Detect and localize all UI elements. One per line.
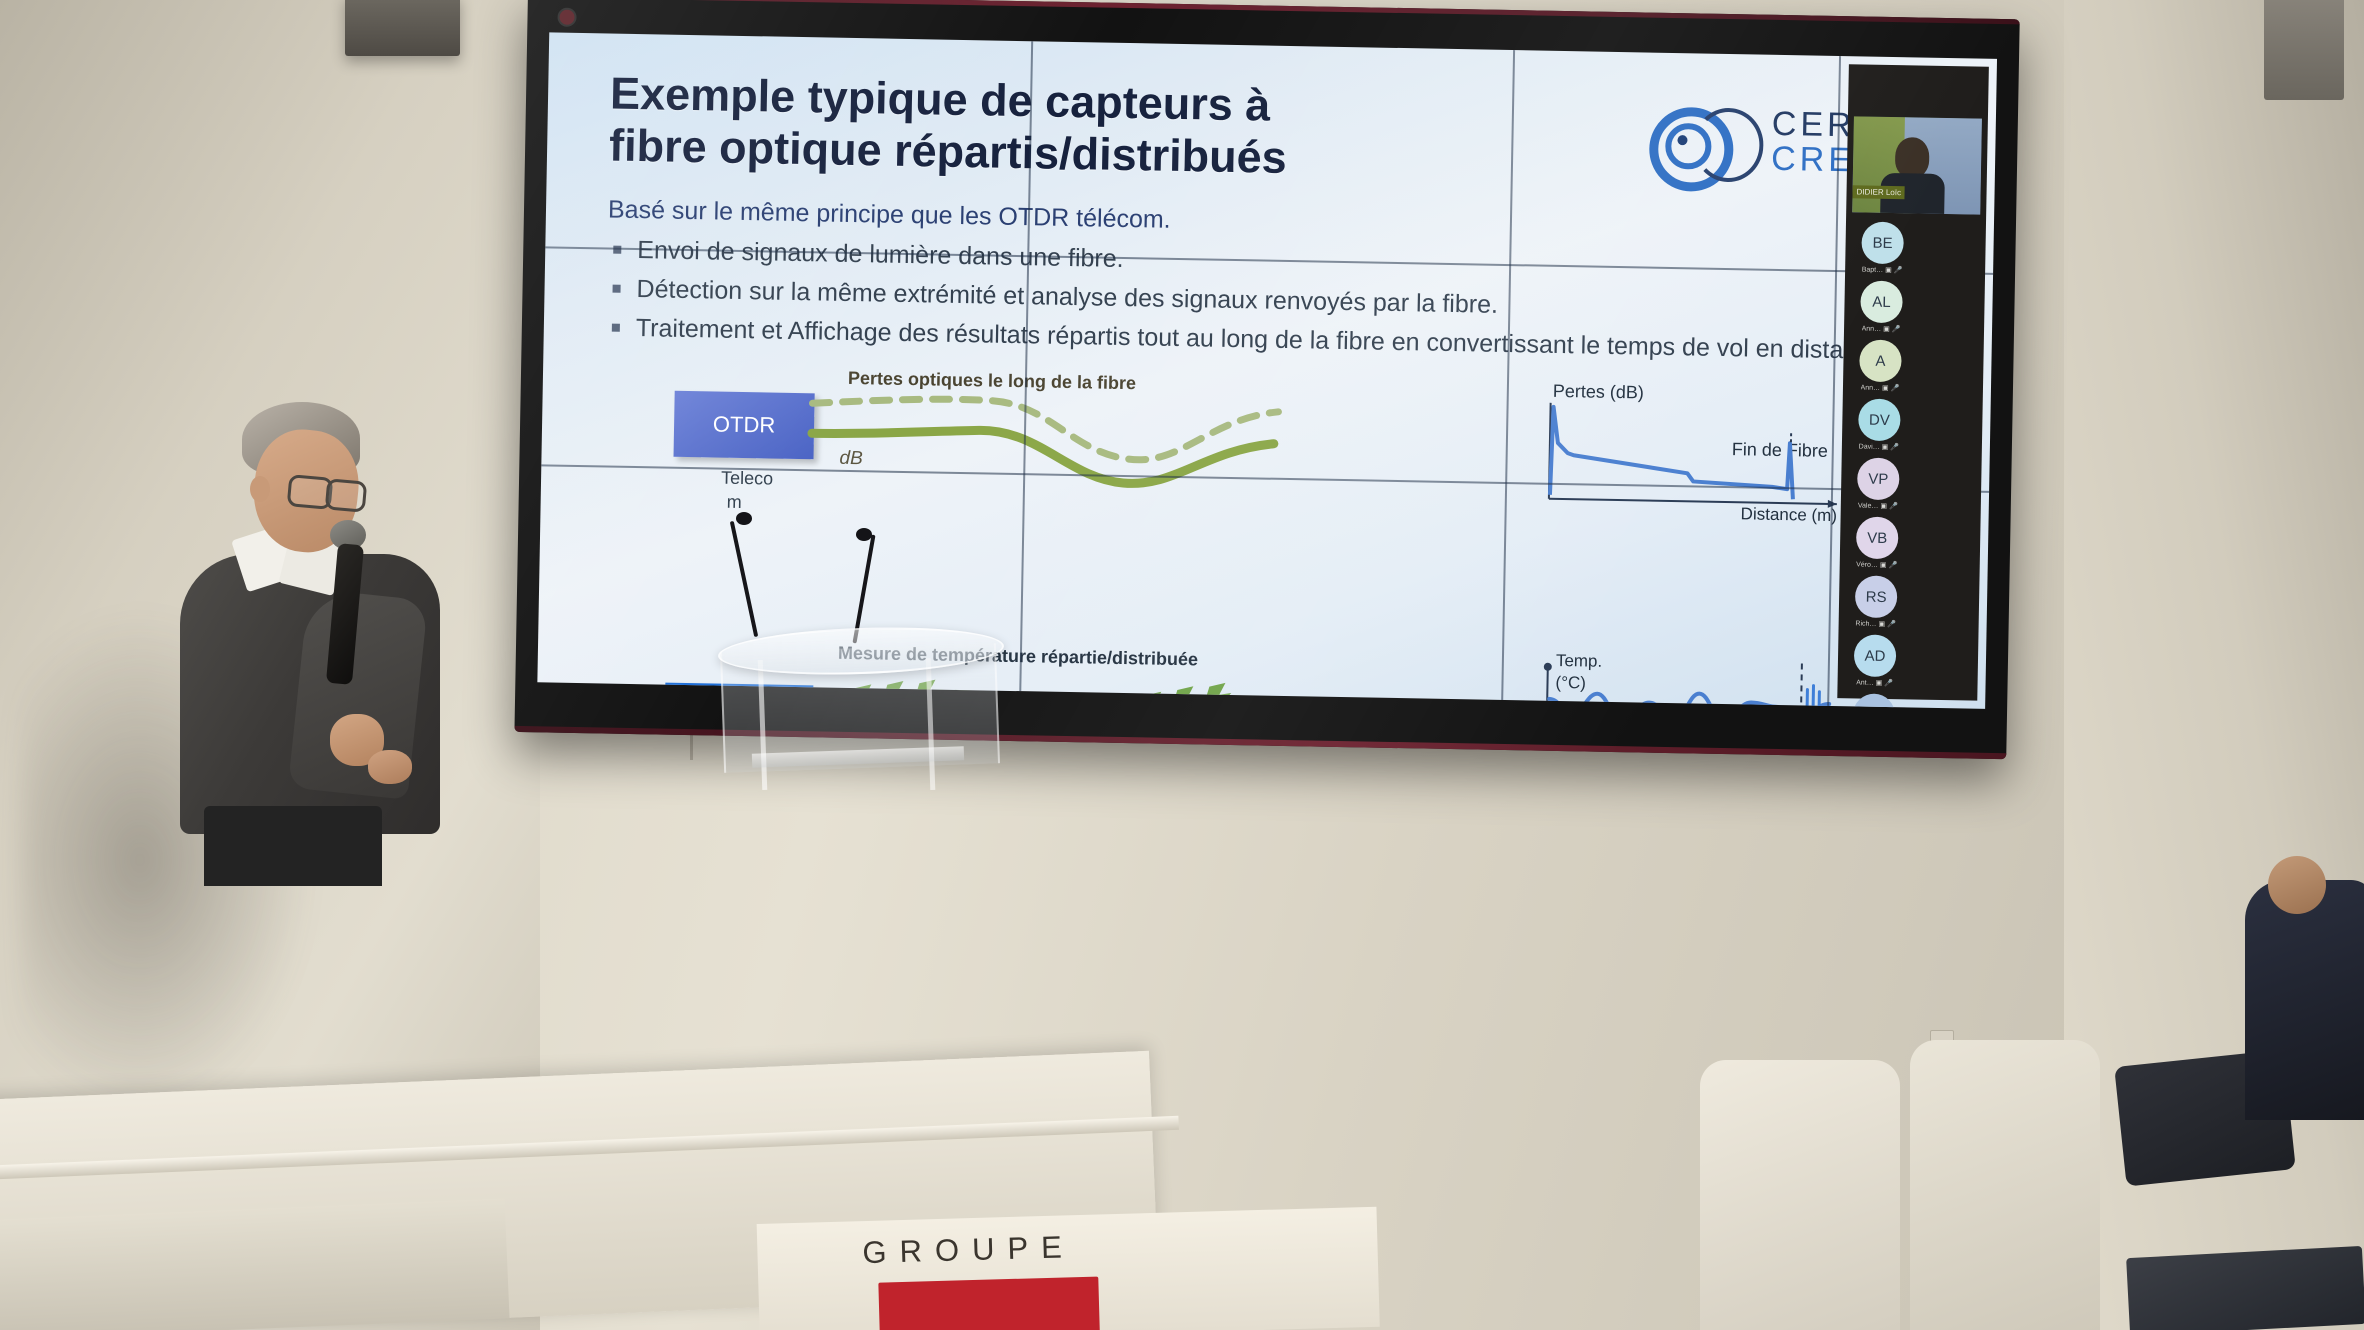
ceiling-pillar-right bbox=[2264, 0, 2344, 100]
participant-name: Ann… bbox=[1862, 325, 1882, 332]
avatar: RS bbox=[1855, 575, 1898, 618]
presenter-ear bbox=[250, 476, 270, 502]
seated-attendee-head bbox=[2268, 856, 2326, 914]
avatar: TR bbox=[1853, 693, 1896, 708]
banner-text: GROUPE bbox=[862, 1229, 1075, 1271]
mic-muted-icon: 🎤 bbox=[1894, 266, 1903, 274]
otdr-box-sub-line2: m bbox=[726, 492, 741, 513]
slide-bullet-list: Envoi de signaux de lumière dans une fib… bbox=[611, 234, 1933, 375]
camera-off-icon: ▣ bbox=[1882, 384, 1889, 392]
camera-off-icon: ▣ bbox=[1883, 325, 1890, 333]
camera-off-icon: ▣ bbox=[1876, 679, 1883, 687]
participant-name: Ant… bbox=[1856, 679, 1874, 686]
avatar: AD bbox=[1854, 634, 1897, 677]
list-item[interactable]: RS Rich…▣🎤 bbox=[1843, 572, 1910, 628]
avatar: A bbox=[1859, 339, 1902, 382]
gooseneck-mic-right-head bbox=[856, 528, 872, 541]
ceiling-speaker-panel bbox=[345, 0, 460, 56]
mic-muted-icon: 🎤 bbox=[1888, 561, 1897, 569]
presenter-hand-lower bbox=[368, 750, 412, 784]
list-item[interactable]: VB Véro…▣🎤 bbox=[1844, 513, 1911, 569]
list-item[interactable]: VP Vale…▣🎤 bbox=[1845, 454, 1912, 510]
temperature-trace-chart bbox=[1532, 655, 1864, 709]
laptop bbox=[2126, 1246, 2364, 1330]
conference-room-scene: Exemple typique de capteurs à fibre opti… bbox=[0, 0, 2364, 1330]
videowall-seam-vertical-2 bbox=[1501, 50, 1515, 700]
front-desk-left bbox=[0, 1198, 510, 1330]
avatar: BE bbox=[1861, 221, 1904, 264]
slide-lead-text: Basé sur le même principe que les OTDR t… bbox=[608, 196, 1171, 235]
room-banner: GROUPE bbox=[757, 1207, 1380, 1330]
camera-off-icon: ▣ bbox=[1885, 266, 1892, 274]
otdr-box: OTDR bbox=[674, 391, 815, 460]
chair-left bbox=[1700, 1060, 1900, 1330]
gooseneck-mic-left-head bbox=[736, 512, 752, 525]
power-indicator-icon bbox=[557, 8, 576, 27]
participant-name: Véro… bbox=[1856, 561, 1878, 568]
bullet-square-icon bbox=[612, 324, 620, 332]
list-item[interactable]: BE Bapt…▣🎤 bbox=[1849, 218, 1916, 274]
seated-attendee-body bbox=[2245, 880, 2364, 1120]
avatar: AL bbox=[1860, 280, 1903, 323]
presenter-trousers bbox=[204, 806, 382, 886]
otdr-box-sub-line1: Teleco bbox=[707, 467, 787, 489]
participant-name: Vale… bbox=[1858, 502, 1879, 509]
chair-right bbox=[1910, 1040, 2100, 1330]
list-item[interactable]: TR RAK…▣🎤 bbox=[1840, 690, 1907, 709]
participant-grid: BE Bapt…▣🎤 AL Ann…▣🎤 A Ann…▣🎤 DV bbox=[1831, 212, 1986, 709]
banner-accent bbox=[878, 1277, 1100, 1330]
mic-muted-icon: 🎤 bbox=[1887, 620, 1896, 628]
camera-off-icon: ▣ bbox=[1880, 502, 1887, 510]
mic-muted-icon: 🎤 bbox=[1890, 443, 1899, 451]
list-item[interactable]: DV Davi…▣🎤 bbox=[1846, 395, 1913, 451]
mic-muted-icon: 🎤 bbox=[1884, 679, 1893, 687]
camera-off-icon: ▣ bbox=[1880, 561, 1887, 569]
target-circles-logo-icon bbox=[1649, 101, 1758, 181]
list-item[interactable]: AL Ann…▣🎤 bbox=[1848, 277, 1915, 333]
avatar: DV bbox=[1858, 398, 1901, 441]
mic-muted-icon: 🎤 bbox=[1892, 325, 1901, 333]
glasses-lens-right bbox=[325, 478, 368, 512]
participant-name: Rich… bbox=[1855, 620, 1876, 627]
participant-name: Ann… bbox=[1861, 384, 1881, 391]
presenter bbox=[180, 398, 480, 828]
display-screen: Exemple typique de capteurs à fibre opti… bbox=[537, 32, 1997, 708]
bullet-square-icon bbox=[613, 285, 621, 293]
active-speaker-name: DIDIER Loïc bbox=[1852, 185, 1905, 199]
otdr-trace-chart bbox=[1537, 399, 1859, 517]
participant-name: Bapt… bbox=[1862, 266, 1884, 273]
video-conference-sidebar[interactable]: DIDIER Loïc BE Bapt…▣🎤 AL Ann…▣🎤 A bbox=[1837, 64, 1989, 700]
presentation-slide: Exemple typique de capteurs à fibre opti… bbox=[537, 32, 1997, 708]
active-speaker-tile[interactable]: DIDIER Loïc bbox=[1852, 116, 1982, 214]
fiber-curve-top bbox=[803, 381, 1285, 510]
mic-muted-icon: 🎤 bbox=[1889, 502, 1898, 510]
participant-name: Davi… bbox=[1859, 443, 1880, 450]
list-item[interactable]: A Ann…▣🎤 bbox=[1847, 336, 1914, 392]
avatar: VP bbox=[1857, 457, 1900, 500]
camera-off-icon: ▣ bbox=[1878, 620, 1885, 628]
avatar: VB bbox=[1856, 516, 1899, 559]
list-item[interactable]: AD Ant…▣🎤 bbox=[1841, 631, 1908, 687]
page-title: Exemple typique de capteurs à fibre opti… bbox=[609, 68, 1291, 185]
camera-off-icon: ▣ bbox=[1882, 443, 1889, 451]
mic-muted-icon: 🎤 bbox=[1891, 384, 1900, 392]
